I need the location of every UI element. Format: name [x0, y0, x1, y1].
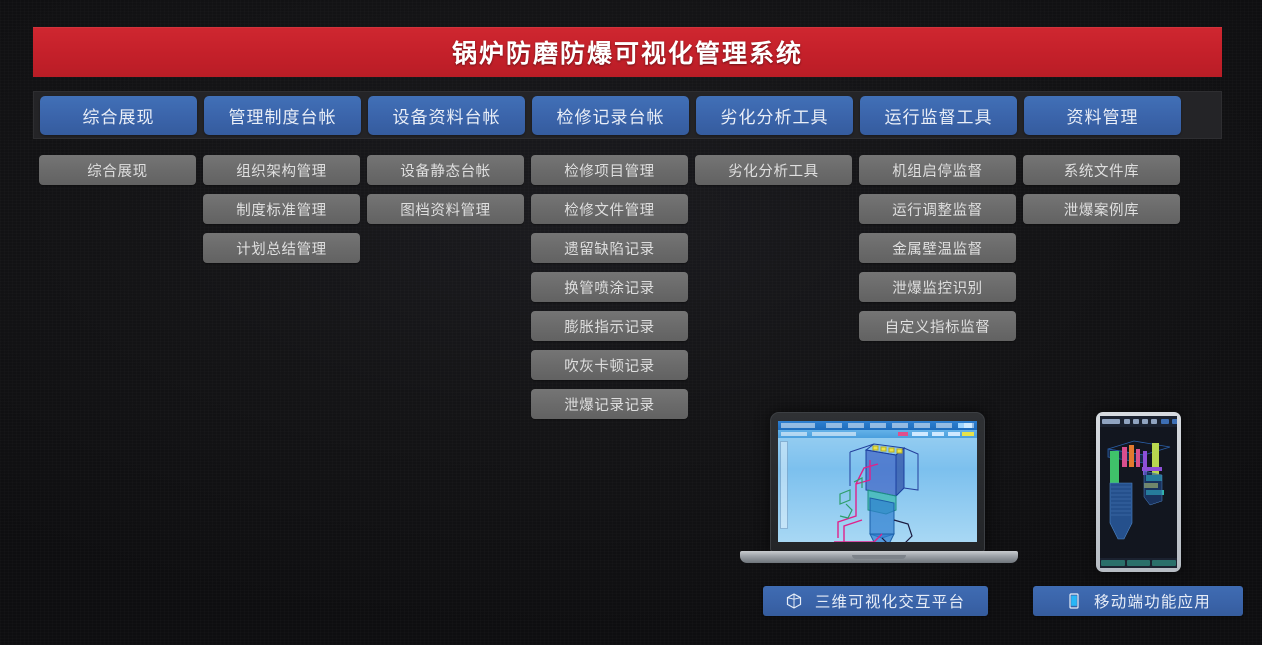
laptop-app-subtoolbar	[778, 430, 977, 438]
boiler-3d-model-desktop	[778, 438, 977, 542]
phone-screen	[1100, 416, 1177, 568]
phone-app-toolbar	[1100, 416, 1177, 427]
3d-visualization-platform-button[interactable]: 三维可视化交互平台	[763, 586, 988, 616]
submenu-item-4-1[interactable]: 检修项目管理	[531, 155, 688, 185]
app-title-banner: 锅炉防磨防爆可视化管理系统	[33, 27, 1222, 77]
laptop-screen	[778, 421, 977, 542]
submenu-item-6-4[interactable]: 泄爆监控识别	[859, 272, 1016, 302]
submenu-column-2: 组织架构管理制度标准管理计划总结管理	[203, 155, 360, 419]
tab-6[interactable]: 运行监督工具	[860, 96, 1017, 135]
submenu-item-4-5[interactable]: 膨胀指示记录	[531, 311, 688, 341]
submenu-item-4-2[interactable]: 检修文件管理	[531, 194, 688, 224]
submenu-item-6-5[interactable]: 自定义指标监督	[859, 311, 1016, 341]
3d-platform-label: 三维可视化交互平台	[815, 590, 965, 612]
tab-1[interactable]: 综合展现	[40, 96, 197, 135]
submenu-item-2-3[interactable]: 计划总结管理	[203, 233, 360, 263]
tab-4[interactable]: 检修记录台帐	[532, 96, 689, 135]
submenu-item-1-1[interactable]: 综合展现	[39, 155, 196, 185]
laptop-hinge-notch	[852, 555, 906, 559]
laptop-app-toolbar	[778, 421, 977, 430]
submenu-column-3: 设备静态台帐图档资料管理	[367, 155, 524, 419]
submenu-item-6-1[interactable]: 机组启停监督	[859, 155, 1016, 185]
submenu-item-7-2[interactable]: 泄爆案例库	[1023, 194, 1180, 224]
laptop-lid	[770, 412, 985, 552]
submenu-item-6-2[interactable]: 运行调整监督	[859, 194, 1016, 224]
phone-bottom-bar[interactable]	[1100, 558, 1177, 568]
submenu-column-4: 检修项目管理检修文件管理遗留缺陷记录换管喷涂记录膨胀指示记录吹灰卡顿记录泄爆记录…	[531, 155, 688, 419]
phone-icon	[1065, 593, 1082, 610]
page-title: 锅炉防磨防爆可视化管理系统	[452, 34, 803, 70]
submenu-column-6: 机组启停监督运行调整监督金属壁温监督泄爆监控识别自定义指标监督	[859, 155, 1016, 419]
laptop-mockup	[740, 412, 1018, 577]
submenu-item-6-3[interactable]: 金属壁温监督	[859, 233, 1016, 263]
main-tab-bar: 综合展现管理制度台帐设备资料台帐检修记录台帐劣化分析工具运行监督工具资料管理	[33, 91, 1222, 139]
mobile-app-label: 移动端功能应用	[1094, 590, 1211, 612]
tab-5[interactable]: 劣化分析工具	[696, 96, 853, 135]
submenu-item-4-4[interactable]: 换管喷涂记录	[531, 272, 688, 302]
submenu-item-7-1[interactable]: 系统文件库	[1023, 155, 1180, 185]
submenu-item-5-1[interactable]: 劣化分析工具	[695, 155, 852, 185]
submenu-column-1: 综合展现	[39, 155, 196, 419]
submenu-column-7: 系统文件库泄爆案例库	[1023, 155, 1180, 419]
submenu-item-3-1[interactable]: 设备静态台帐	[367, 155, 524, 185]
submenu-item-2-2[interactable]: 制度标准管理	[203, 194, 360, 224]
mobile-application-button[interactable]: 移动端功能应用	[1033, 586, 1243, 616]
submenu-item-4-7[interactable]: 泄爆记录记录	[531, 389, 688, 419]
submenu-columns: 综合展现组织架构管理制度标准管理计划总结管理设备静态台帐图档资料管理检修项目管理…	[33, 155, 1222, 419]
tab-3[interactable]: 设备资料台帐	[368, 96, 525, 135]
tab-2[interactable]: 管理制度台帐	[204, 96, 361, 135]
submenu-column-5: 劣化分析工具	[695, 155, 852, 419]
submenu-item-4-3[interactable]: 遗留缺陷记录	[531, 233, 688, 263]
submenu-item-3-2[interactable]: 图档资料管理	[367, 194, 524, 224]
cube-icon	[786, 593, 803, 610]
phone-mockup	[1096, 412, 1181, 572]
submenu-item-4-6[interactable]: 吹灰卡顿记录	[531, 350, 688, 380]
tab-7[interactable]: 资料管理	[1024, 96, 1181, 135]
submenu-item-2-1[interactable]: 组织架构管理	[203, 155, 360, 185]
boiler-3d-model-mobile	[1100, 427, 1177, 549]
